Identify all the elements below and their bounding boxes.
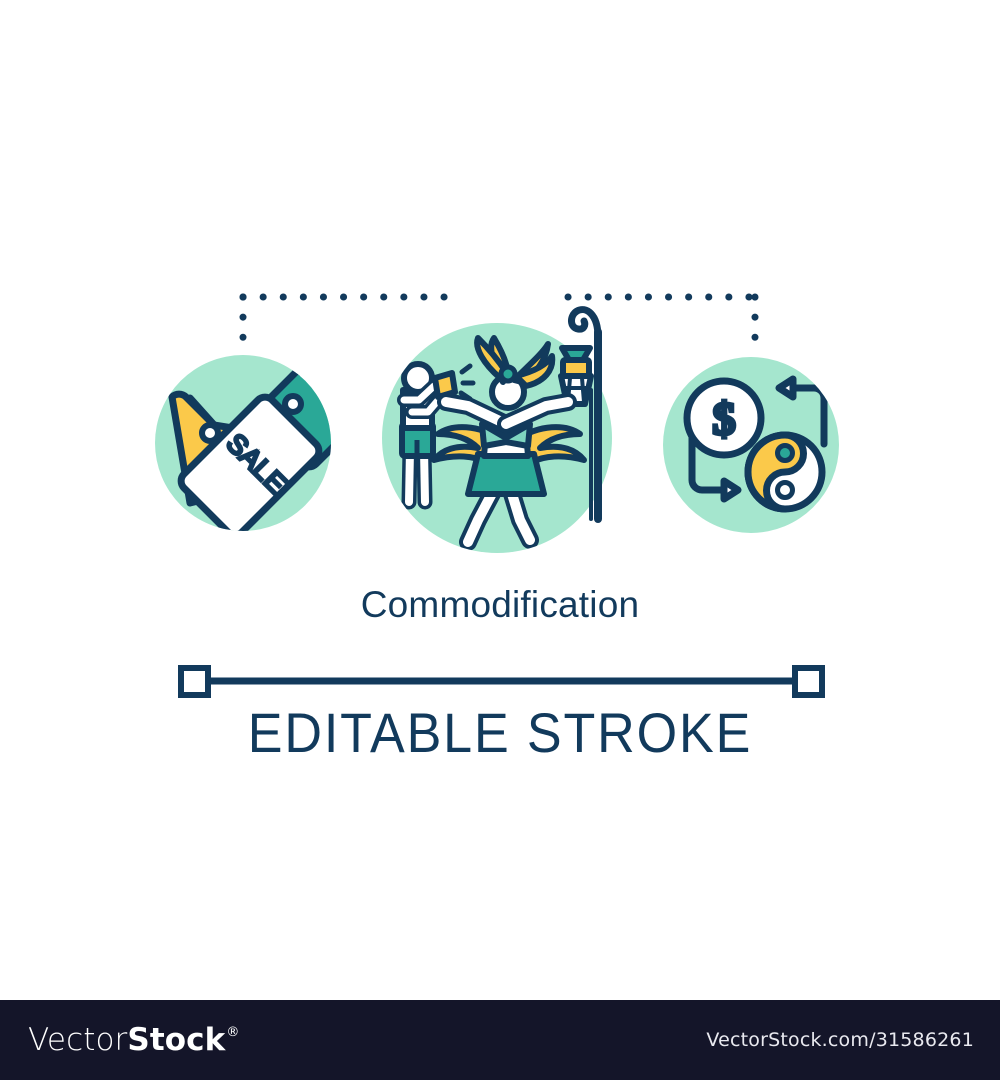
scene-carnival-performance bbox=[382, 310, 612, 553]
concept-illustration: SALE bbox=[0, 0, 1000, 1000]
dollar-symbol: $ bbox=[713, 393, 736, 444]
page-title: Commodification bbox=[0, 586, 1000, 623]
logo-word-vector: Vector bbox=[28, 1025, 127, 1056]
stroke-handle-left[interactable] bbox=[181, 668, 208, 695]
stroke-handle-right[interactable] bbox=[795, 668, 822, 695]
scene-money-culture-exchange: $ bbox=[663, 357, 839, 533]
registered-trademark-icon: ® bbox=[226, 1026, 239, 1039]
scene-sale-tags: SALE bbox=[155, 355, 355, 535]
dollar-coin-icon: $ bbox=[687, 381, 761, 455]
watermark-bar: VectorStock® VectorStock.com/31586261 bbox=[0, 1000, 1000, 1080]
logo-word-stock: Stock bbox=[127, 1025, 225, 1056]
vectorstock-logo: VectorStock® bbox=[28, 1025, 239, 1056]
yin-yang-icon bbox=[748, 435, 822, 509]
watermark-url: VectorStock.com/31586261 bbox=[706, 1029, 974, 1051]
editable-stroke-rule bbox=[181, 668, 822, 695]
editable-stroke-label: EDITABLE STROKE bbox=[35, 705, 965, 761]
illustration-canvas: SALE bbox=[0, 0, 1000, 1000]
